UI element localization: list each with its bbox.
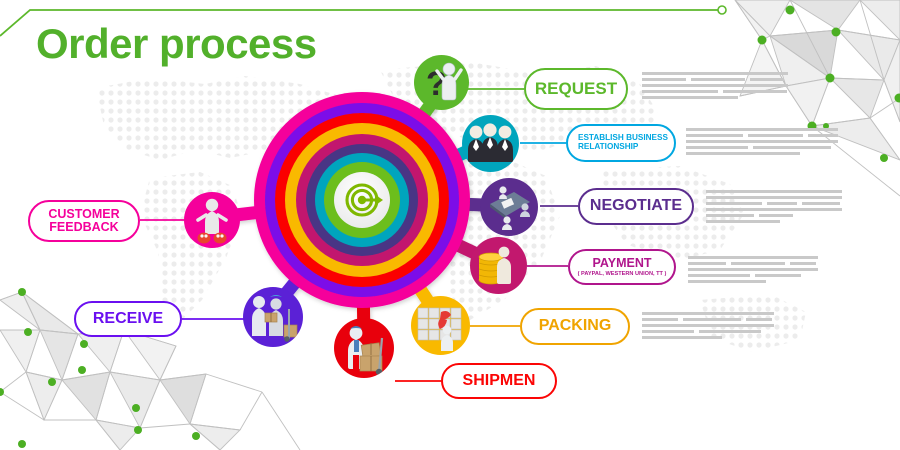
lorem-block-establish — [686, 128, 838, 158]
pill-payment-sublabel: ( PAYPAL, WESTERN UNION, TT ) — [578, 271, 667, 277]
person-thumbs-up-icon — [184, 192, 240, 248]
three-businessmen-icon — [462, 115, 519, 172]
pill-feedback-label-line2: FEEDBACK — [49, 221, 118, 234]
pill-receive[interactable]: RECEIVE — [74, 301, 182, 337]
node-request[interactable]: ? — [414, 55, 469, 110]
packages-boxes-icon — [411, 296, 470, 355]
question-mark-person-icon: ? — [414, 55, 469, 110]
meeting-table-icon — [480, 178, 538, 236]
infographic-canvas: Order process ? — [0, 0, 900, 450]
pill-payment[interactable]: PAYMENT ( PAYPAL, WESTERN UNION, TT ) — [568, 249, 676, 285]
lorem-block-request — [642, 72, 788, 102]
gold-coins-stack-icon — [470, 237, 527, 294]
node-shipment[interactable] — [334, 318, 394, 378]
pill-payment-label: PAYMENT — [592, 257, 651, 270]
pill-request[interactable]: REQUEST — [524, 68, 628, 110]
node-receive[interactable] — [243, 287, 303, 347]
pill-customer-feedback[interactable]: CUSTOMER FEEDBACK — [28, 200, 140, 242]
pill-establish-business-relationship[interactable]: ESTABLISH BUSINESS RELATIONSHIP — [566, 124, 676, 162]
page-title: Order process — [36, 20, 317, 68]
handover-parcel-icon — [243, 287, 303, 347]
node-negotiate[interactable] — [480, 178, 538, 236]
delivery-person-trolley-icon — [334, 318, 394, 378]
pill-receive-label: RECEIVE — [93, 311, 163, 328]
pill-negotiate[interactable]: NEGOTIATE — [578, 188, 694, 225]
pill-packing-label: PACKING — [539, 318, 612, 335]
node-payment[interactable] — [470, 237, 527, 294]
lorem-block-payment — [688, 256, 818, 286]
pill-negotiate-label: NEGOTIATE — [590, 198, 682, 215]
pill-shipment-label: SHIPMEN — [463, 373, 536, 390]
pill-shipment[interactable]: SHIPMEN — [441, 363, 557, 399]
node-establish-business-relationship[interactable] — [462, 115, 519, 172]
pill-packing[interactable]: PACKING — [520, 308, 630, 345]
node-customer-feedback[interactable] — [184, 192, 240, 248]
pill-request-label: REQUEST — [535, 80, 617, 98]
pill-establish-label-line2: RELATIONSHIP — [578, 143, 638, 152]
lorem-block-negotiate — [706, 190, 842, 226]
lorem-block-packing — [642, 312, 774, 342]
node-packing[interactable] — [411, 296, 470, 355]
